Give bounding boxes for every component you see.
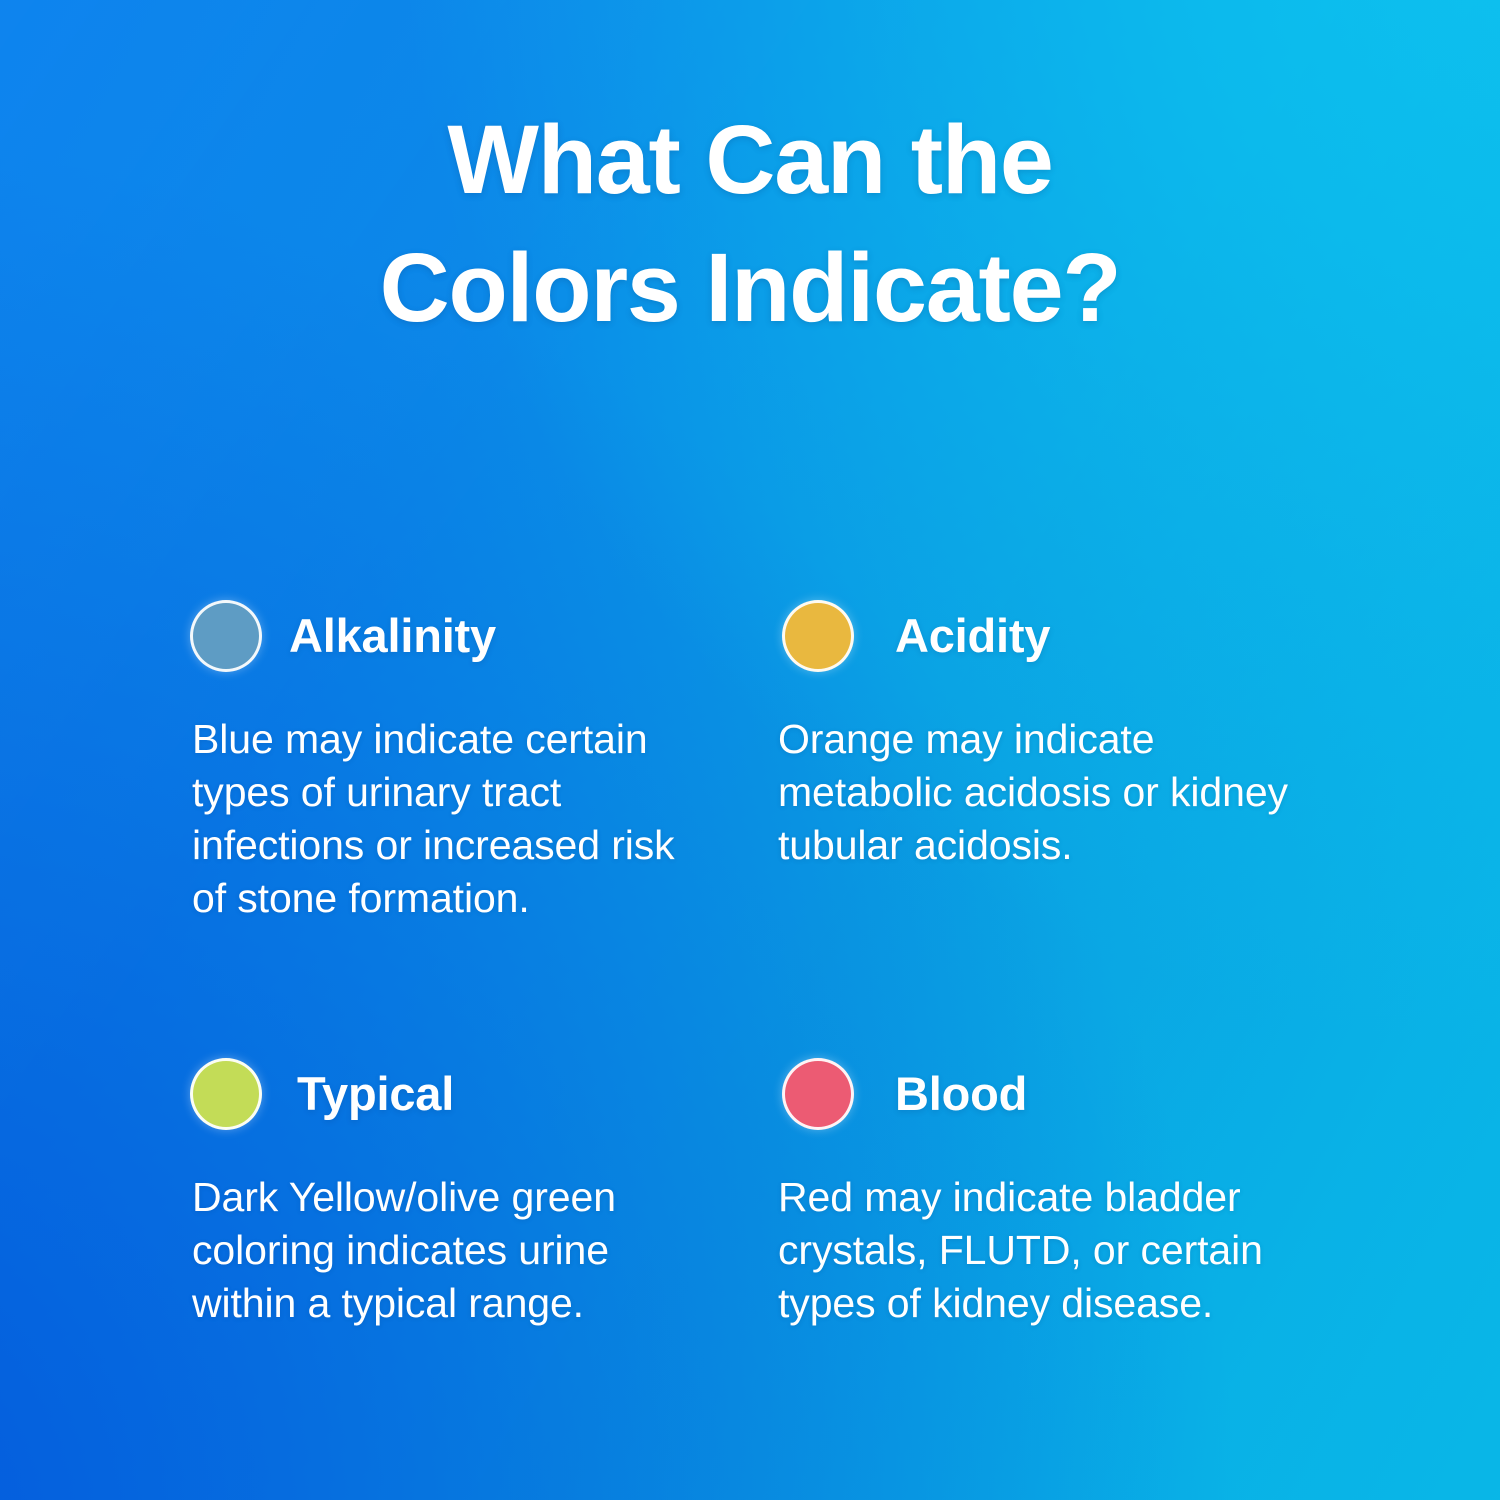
legend-item-header: Acidity: [782, 600, 1348, 672]
color-swatch-red-icon: [782, 1058, 854, 1130]
legend-item-alkalinity: Alkalinity Blue may indicate certain typ…: [178, 600, 770, 966]
color-swatch-green-icon: [190, 1058, 262, 1130]
legend-item-typical: Typical Dark Yellow/olive green coloring…: [178, 1058, 770, 1371]
legend-item-label: Acidity: [895, 610, 1050, 662]
legend-item-header: Alkalinity: [190, 600, 770, 672]
infographic-poster: What Can the Colors Indicate? Alkalinity…: [0, 0, 1500, 1500]
legend-item-label: Typical: [297, 1068, 454, 1120]
legend-item-description: Orange may indicate metabolic acidosis o…: [778, 713, 1323, 872]
color-swatch-blue-icon: [190, 600, 262, 672]
legend-item-header: Typical: [190, 1058, 770, 1130]
page-title-line-1: What Can the: [0, 96, 1500, 224]
color-swatch-orange-icon: [782, 600, 854, 672]
legend-item-header: Blood: [782, 1058, 1348, 1130]
legend-item-description: Red may indicate bladder crystals, FLUTD…: [778, 1171, 1323, 1330]
legend-item-description: Dark Yellow/olive green coloring indicat…: [192, 1171, 712, 1330]
legend-item-description: Blue may indicate certain types of urina…: [192, 713, 712, 925]
legend-item-acidity: Acidity Orange may indicate metabolic ac…: [770, 600, 1348, 966]
legend-item-label: Alkalinity: [289, 610, 496, 662]
page-title-line-2: Colors Indicate?: [0, 224, 1500, 352]
legend-item-blood: Blood Red may indicate bladder crystals,…: [770, 1058, 1348, 1371]
page-title: What Can the Colors Indicate?: [0, 96, 1500, 352]
legend-item-label: Blood: [895, 1068, 1027, 1120]
color-legend-grid: Alkalinity Blue may indicate certain typ…: [178, 600, 1348, 1371]
